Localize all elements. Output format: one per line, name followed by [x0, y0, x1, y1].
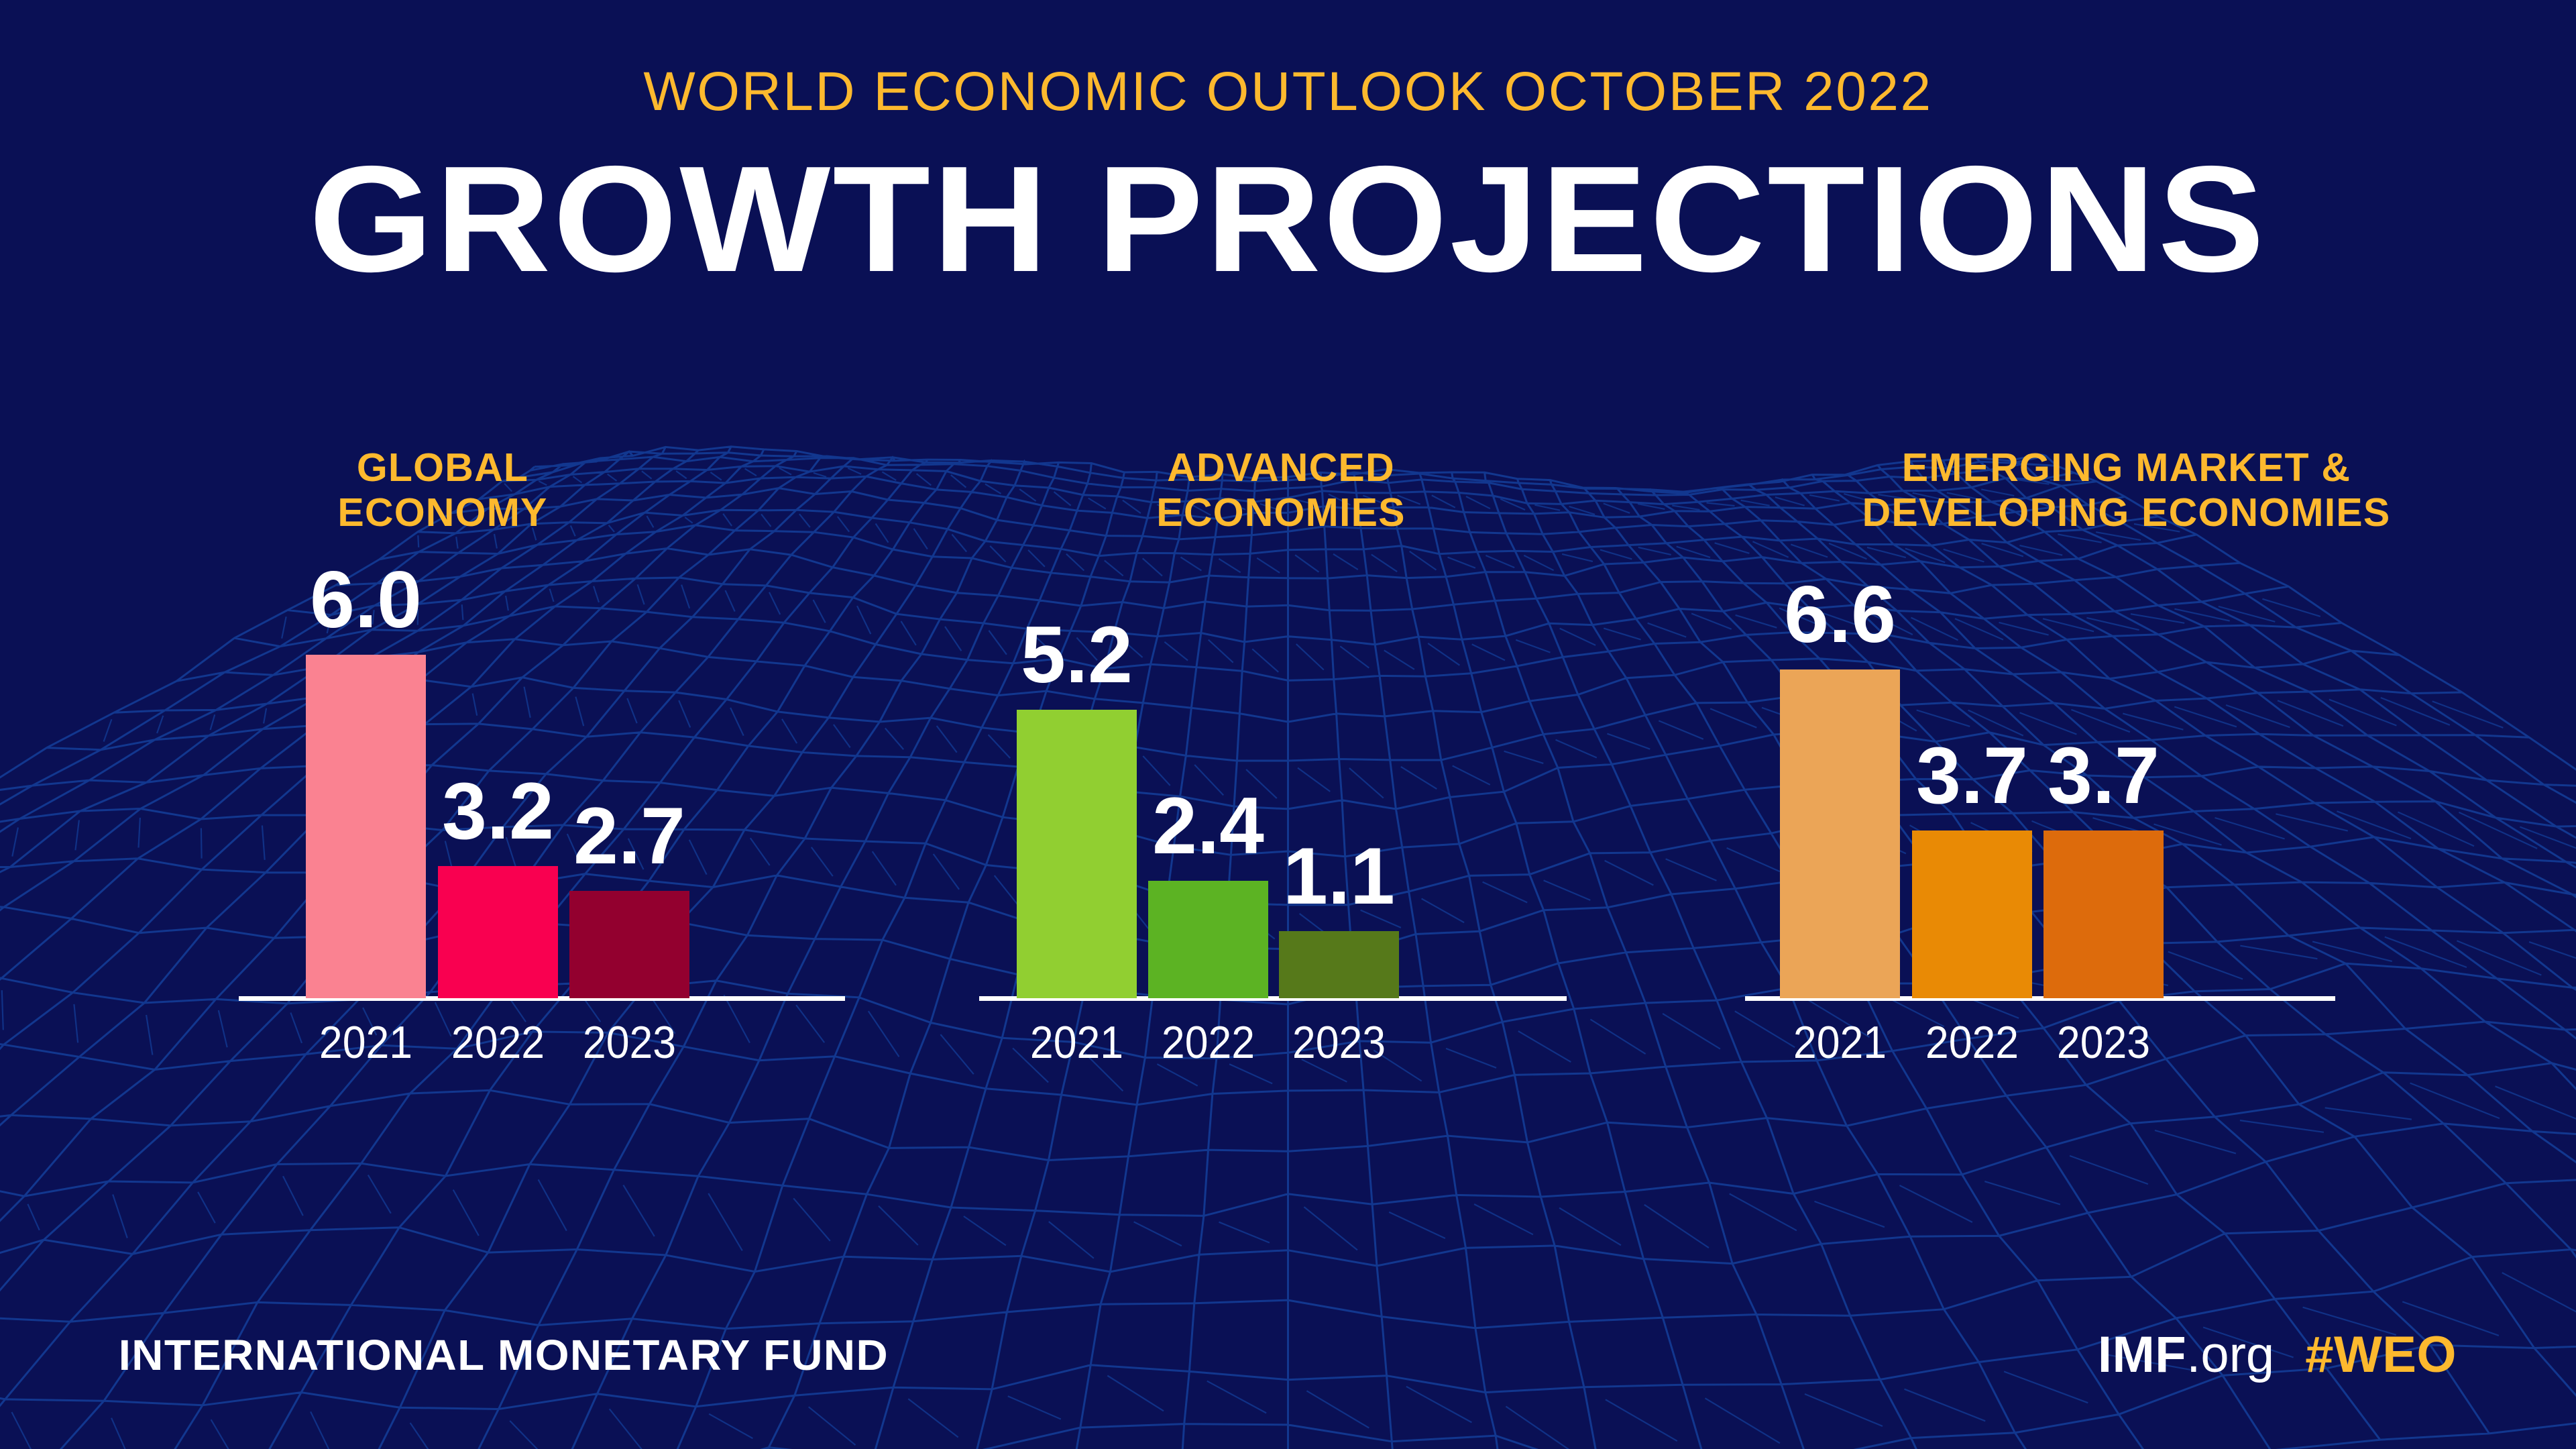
chart-group-title: GLOBAL ECONOMY	[337, 445, 547, 546]
chart-plot-area: 6.020213.220222.72023	[0, 546, 885, 1224]
imf-domain-suffix: .org	[2186, 1326, 2274, 1383]
bar-2022	[438, 866, 558, 998]
bar-value-label: 6.6	[1760, 574, 1920, 655]
chart-group-title: EMERGING MARKET & DEVELOPING ECONOMIES	[1862, 445, 2391, 546]
x-axis-tick-2023: 2023	[547, 1020, 712, 1065]
poster-header: WORLD ECONOMIC OUTLOOK OCTOBER 2022 GROW…	[0, 0, 2576, 402]
chart-group-2: EMERGING MARKET & DEVELOPING ECONOMIES6.…	[1677, 429, 2576, 1268]
bar-2022	[1148, 881, 1268, 998]
bar-2022	[1912, 830, 2032, 998]
kicker-text: WORLD ECONOMIC OUTLOOK OCTOBER 2022	[643, 64, 1932, 119]
page-title: GROWTH PROJECTIONS	[309, 144, 2267, 294]
imf-website-link[interactable]: IMF.org	[2098, 1330, 2274, 1381]
bar-2021	[306, 655, 426, 998]
weo-hashtag[interactable]: #WEO	[2305, 1330, 2457, 1381]
infographic-poster: WORLD ECONOMIC OUTLOOK OCTOBER 2022 GROW…	[0, 0, 2576, 1449]
chart-plot-area: 5.220212.420221.12023	[885, 546, 1677, 1224]
bar-value-label: 6.0	[286, 559, 446, 640]
brand-block: IMF.org #WEO	[2098, 1330, 2457, 1381]
bar-chart-groups: GLOBAL ECONOMY6.020213.220222.72023ADVAN…	[0, 429, 2576, 1268]
bar-2023	[2043, 830, 2164, 998]
poster-footer: INTERNATIONAL MONETARY FUND IMF.org #WEO	[0, 1295, 2576, 1449]
imf-wordmark: IMF	[2098, 1326, 2186, 1383]
bar-value-label: 1.1	[1259, 836, 1419, 916]
bar-value-label: 3.7	[2023, 735, 2184, 816]
chart-group-title: ADVANCED ECONOMIES	[1156, 445, 1405, 546]
chart-group-0: GLOBAL ECONOMY6.020213.220222.72023	[0, 429, 885, 1268]
x-axis-tick-2023: 2023	[2021, 1020, 2186, 1065]
x-axis-tick-2023: 2023	[1256, 1020, 1422, 1065]
bar-2023	[569, 891, 689, 998]
bar-2023	[1279, 931, 1399, 998]
chart-plot-area: 6.620213.720223.72023	[1677, 546, 2576, 1224]
bar-value-label: 2.7	[549, 796, 710, 876]
bar-value-label: 5.2	[997, 614, 1157, 695]
organization-name: INTERNATIONAL MONETARY FUND	[119, 1334, 889, 1377]
chart-group-1: ADVANCED ECONOMIES5.220212.420221.12023	[885, 429, 1677, 1268]
bar-2021	[1017, 710, 1137, 998]
bar-2021	[1780, 669, 1900, 998]
